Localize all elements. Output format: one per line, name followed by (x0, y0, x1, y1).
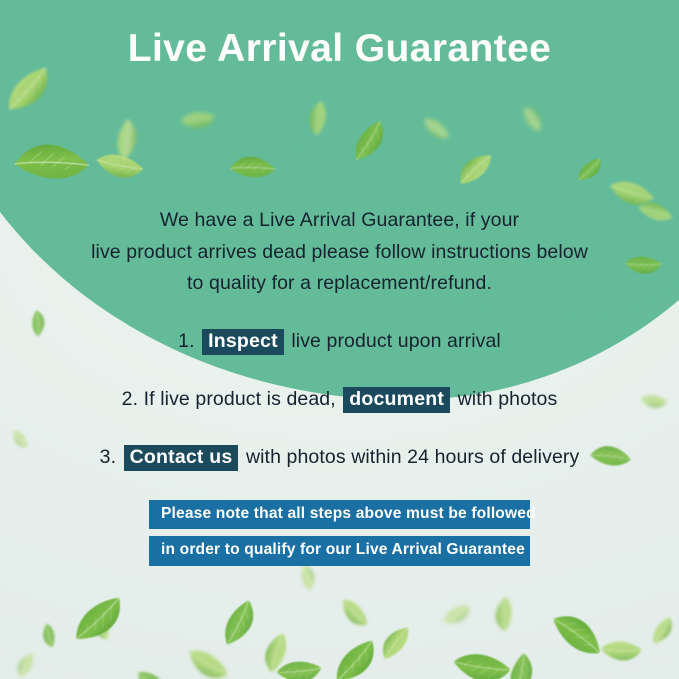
intro-paragraph: We have a Live Arrival Guarantee, if you… (0, 205, 679, 300)
intro-line-2: live product arrives dead please follow … (60, 237, 619, 269)
page-title: Live Arrival Guarantee (0, 27, 679, 72)
step-text-2-after: with photos (458, 388, 558, 410)
live-arrival-guarantee-poster: Live Arrival Guarantee We have a Live Ar… (0, 0, 679, 679)
step-highlight-inspect: Inspect (202, 329, 284, 355)
step-item-1: 1. Inspect live product upon arrival (0, 329, 679, 355)
step-text-1-after: live product upon arrival (291, 330, 501, 352)
step-item-2: 2. If live product is dead, document wit… (0, 387, 679, 413)
intro-line-1: We have a Live Arrival Guarantee, if you… (60, 205, 619, 237)
notice-line-1: Please note that all steps above must be… (149, 500, 530, 529)
step-highlight-document: document (343, 387, 450, 413)
content-area: We have a Live Arrival Guarantee, if you… (0, 205, 679, 471)
step-number-1: 1. (178, 330, 194, 352)
step-text-2-before: If live product is dead, (144, 388, 336, 410)
step-number-2: 2. (122, 388, 138, 410)
step-item-3: 3. Contact us with photos within 24 hour… (0, 445, 679, 471)
intro-line-3: to quality for a replacement/refund. (60, 268, 619, 300)
steps-list: 1. Inspect live product upon arrival 2. … (0, 329, 679, 471)
step-highlight-contact-us: Contact us (124, 445, 239, 471)
step-text-3-after: with photos within 24 hours of delivery (246, 446, 579, 468)
step-number-3: 3. (100, 446, 116, 468)
notice-banner: Please note that all steps above must be… (0, 500, 679, 566)
notice-line-2: in order to qualify for our Live Arrival… (149, 536, 530, 565)
